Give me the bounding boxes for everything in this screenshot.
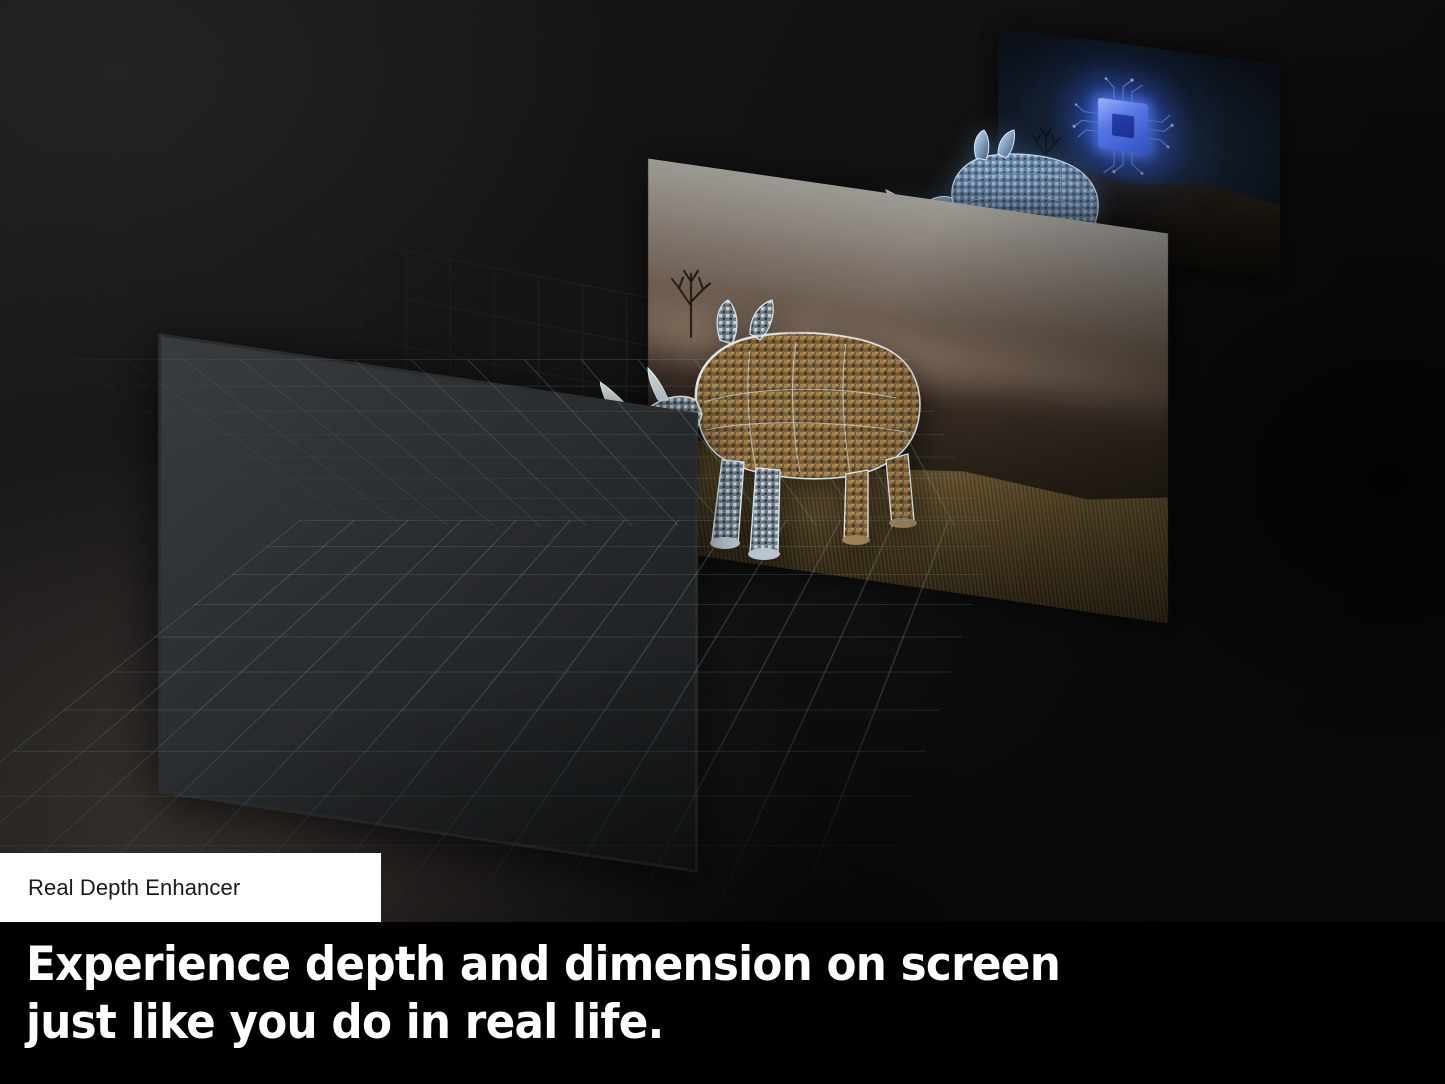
depth-scene — [0, 0, 1445, 922]
caption-block: Experience depth and dimension on screen… — [0, 922, 1445, 1084]
feature-badge-label: Real Depth Enhancer — [28, 875, 240, 901]
feature-badge: Real Depth Enhancer — [0, 853, 381, 922]
screenshot-root: Real Depth Enhancer Experience depth and… — [0, 0, 1445, 1084]
chip-core — [1112, 113, 1134, 138]
caption-line-1: Experience depth and dimension on screen — [26, 936, 1346, 994]
caption-line-2: just like you do in real life. — [26, 994, 1346, 1052]
hero-visual — [0, 0, 1445, 922]
